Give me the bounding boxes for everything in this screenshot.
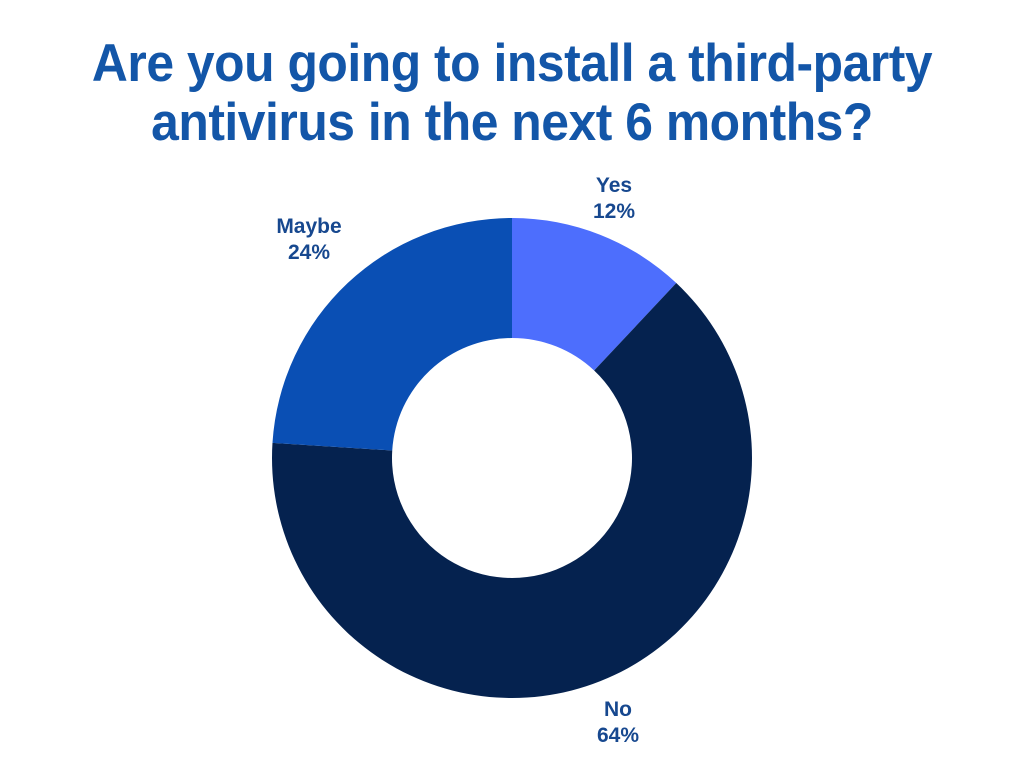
slice-label-yes: Yes 12% [549,173,679,225]
slice-label-maybe-name: Maybe [244,214,374,240]
chart-title: Are you going to install a third-party a… [31,34,994,152]
slice-label-no-value: 64% [553,723,683,749]
slide-canvas: Are you going to install a third-party a… [0,0,1024,768]
slice-label-no-name: No [553,697,683,723]
slice-label-yes-value: 12% [549,199,679,225]
slice-label-maybe-value: 24% [244,240,374,266]
slice-label-yes-name: Yes [549,173,679,199]
donut-chart-svg [272,218,752,698]
slice-label-no: No 64% [553,697,683,749]
donut-chart [272,218,752,698]
slice-label-maybe: Maybe 24% [244,214,374,266]
